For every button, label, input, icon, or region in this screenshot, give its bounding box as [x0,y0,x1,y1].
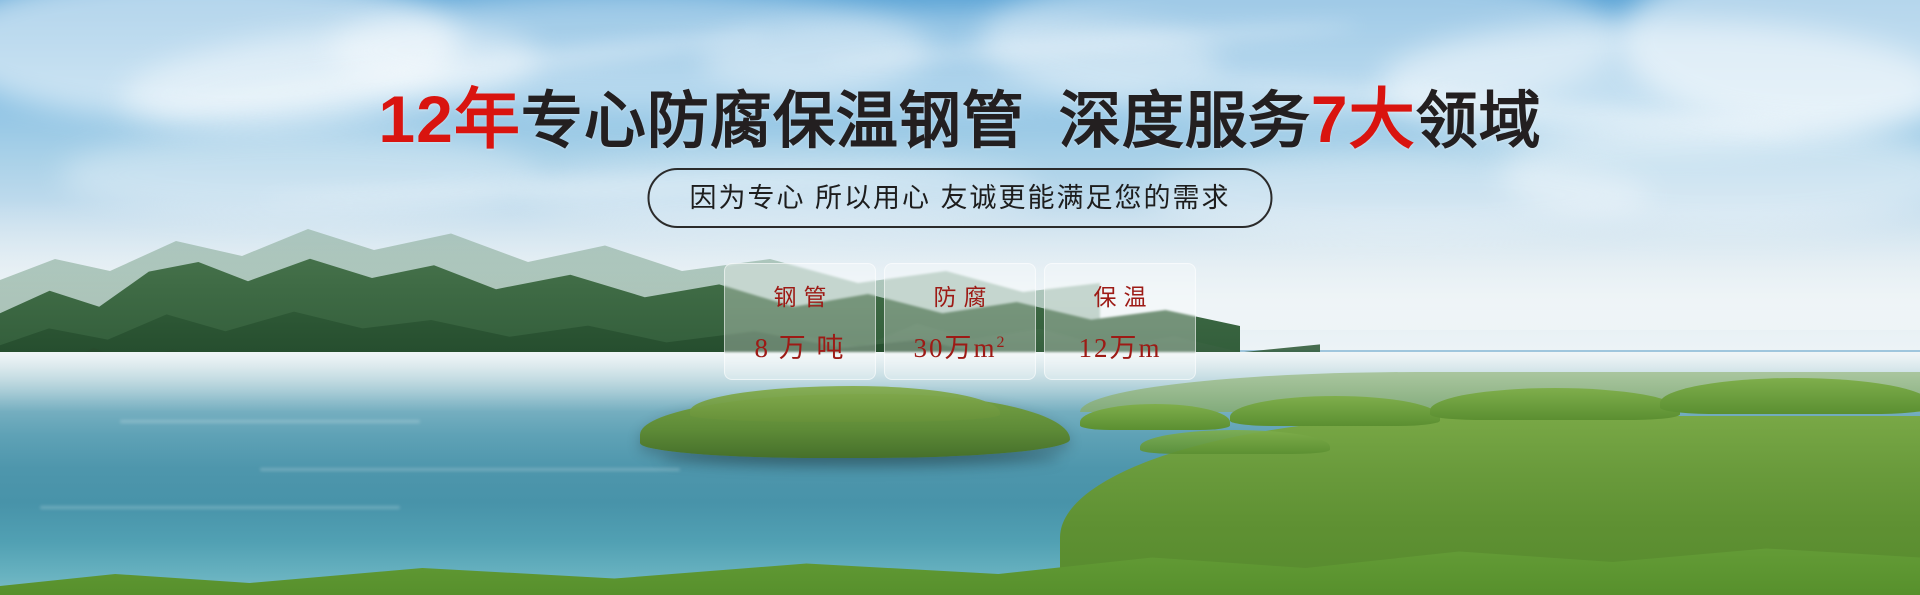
headline-main: 专心防腐保温钢管 [521,87,1025,156]
stat-card-value: 12万m [1078,326,1161,365]
stat-card-label: 钢管 [767,278,834,312]
stat-cards: 钢管 8 万 吨 防腐 30万m2 保温 12万m [724,263,1196,380]
promo-banner: 12年专心防腐保温钢管深度服务7大领域 因为专心 所以用心 友诚更能满足您的需求… [0,0,1920,595]
stat-card-steel-pipe[interactable]: 钢管 8 万 吨 [724,263,876,380]
stat-card-label: 防腐 [927,278,994,312]
headline-service: 深度服务 [1059,87,1311,156]
stat-value-text: 30万m [913,333,996,363]
stat-value-text: 12万m [1078,333,1161,363]
water-ripple [120,420,420,423]
water-ripple [40,506,400,509]
headline-years: 12年 [378,82,520,156]
headline-fields: 领域 [1416,87,1542,156]
page-title: 12年专心防腐保温钢管深度服务7大领域 [0,88,1920,153]
water-ripple [260,468,680,471]
stat-value-sup: 2 [997,334,1007,351]
stat-card-anticorrosion[interactable]: 防腐 30万m2 [884,263,1036,380]
stat-card-insulation[interactable]: 保温 12万m [1044,263,1196,380]
stat-card-value: 30万m2 [913,326,1006,365]
stat-card-label: 保温 [1087,278,1154,312]
stat-value-text: 8 万 吨 [755,333,846,363]
headline-seven: 7大 [1311,82,1416,156]
subtitle-pill: 因为专心 所以用心 友诚更能满足您的需求 [647,168,1272,228]
stat-card-value: 8 万 吨 [755,326,846,365]
